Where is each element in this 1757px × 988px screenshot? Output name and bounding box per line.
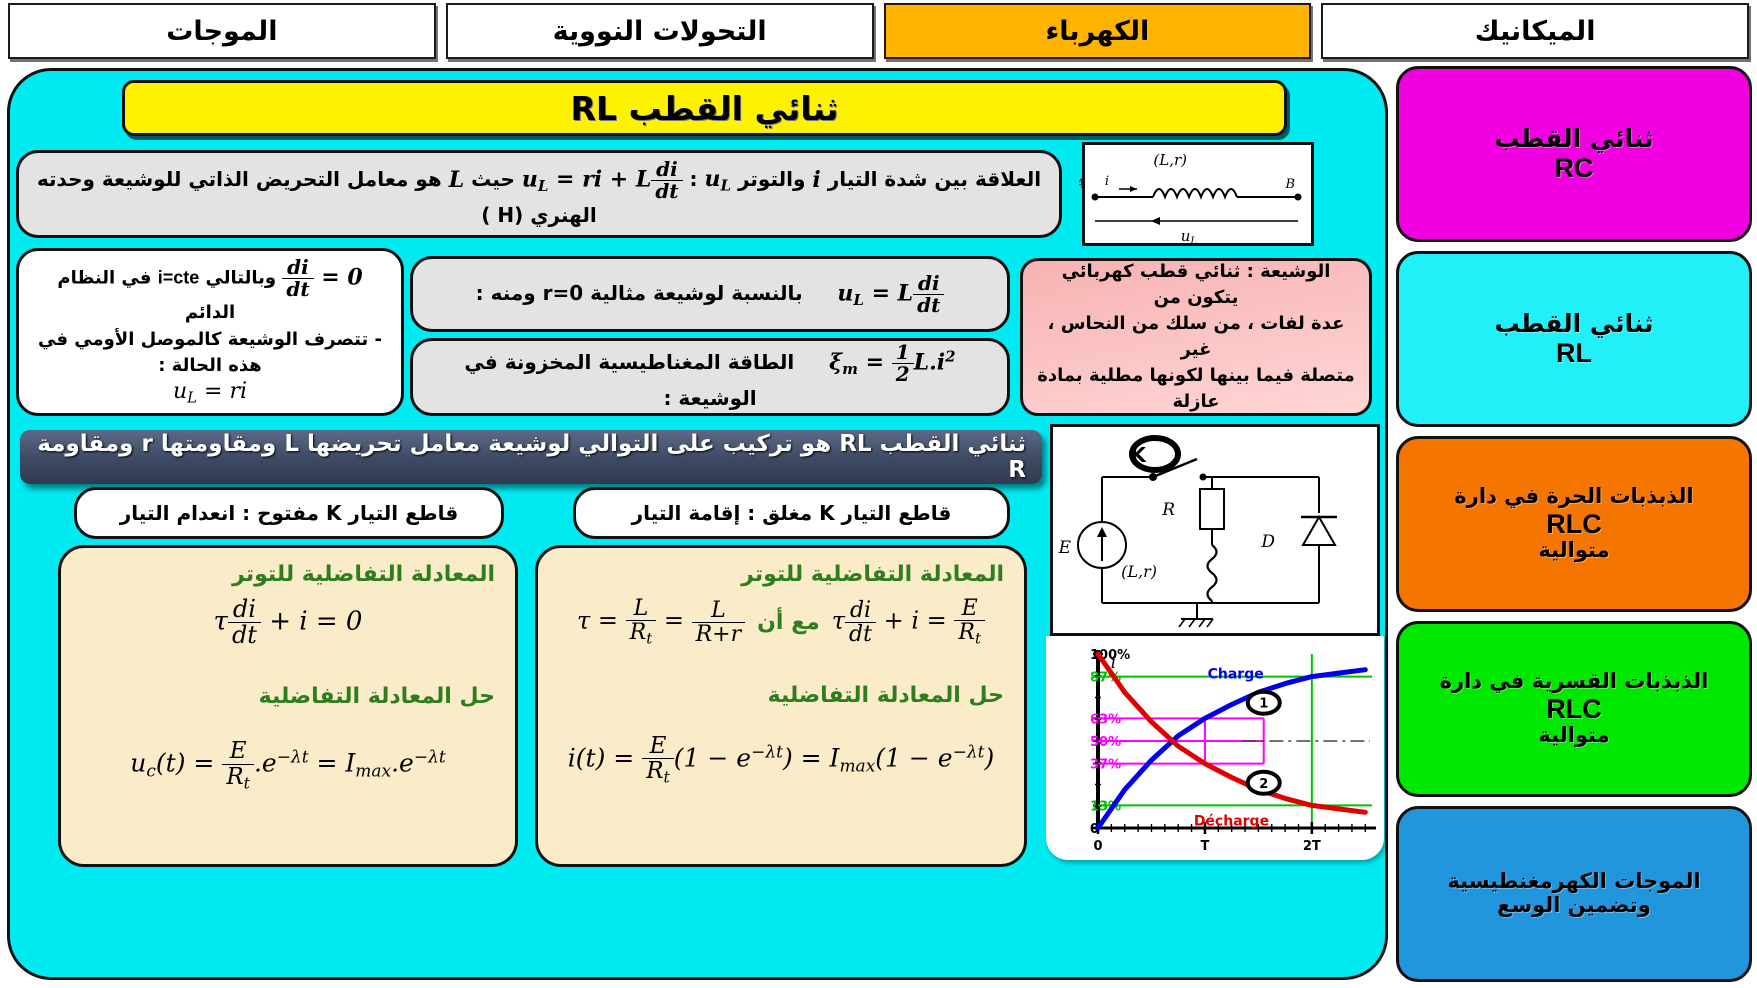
- energy-text: الطاقة المغناطيسية المخزونة في الوشيعة :: [464, 350, 794, 410]
- right-tau-equation: τ = LRt = LR+r: [577, 597, 745, 647]
- coil-def-line-1: الوشيعة : ثنائي قطب كهربائي يتكون من: [1037, 259, 1355, 311]
- sidebar-item-forced-oscillations-rlc[interactable]: الذبذبات القسرية في دارة RLC متوالية: [1396, 621, 1752, 797]
- tab-label: التحولات النووية: [553, 16, 767, 47]
- top-tab-bar: الميكانيك الكهرباء التحولات النووية المو…: [0, 0, 1757, 62]
- tab-label: الميكانيك: [1475, 16, 1596, 47]
- switch-closed-label: قاطع التيار K مغلق : إقامة التيار: [632, 500, 952, 527]
- coil-definition-box: الوشيعة : ثنائي قطب كهربائي يتكون من عدة…: [1020, 258, 1372, 416]
- right-with-text: مع أن: [757, 610, 820, 635]
- y-tick-label: 50%: [1090, 735, 1121, 750]
- rl-dipole-definition-banner: ثنائي القطب RL هو تركيب على التوالي لوشي…: [20, 430, 1042, 484]
- magnetic-energy-box: ξm = 12L.i2 الطاقة المغناطيسية المخزونة …: [410, 338, 1010, 416]
- permanent-regime-box: didt = 0 وبالتالي i=cte في النظام الدائم…: [16, 248, 404, 416]
- i-equals-cte: i=cte: [158, 268, 200, 288]
- sidebar-item-label: الذبذبات القسرية في دارة: [1440, 670, 1709, 694]
- circuit-label-K: K: [1131, 443, 1148, 467]
- source-arrow: [1097, 527, 1107, 537]
- sidebar-item-free-oscillations-rlc[interactable]: الذبذبات الحرة في دارة RLC متوالية: [1396, 436, 1752, 612]
- ideal-row: uL = Ldidt بالنسبة لوشيعة مثالية r=0 ومن…: [427, 273, 993, 316]
- energy-equation: ξm = 12L.i2: [829, 342, 955, 385]
- open-switch-equations-panel: المعادلة التفاضلية للتوتر τdidt + i = 0 …: [58, 545, 518, 867]
- relation-text-b: والتوتر: [738, 167, 805, 191]
- x-tick-label: 2T: [1303, 839, 1321, 854]
- left-diff-eq-row: τdidt + i = 0: [79, 597, 497, 648]
- ideal-coil-box: uL = Ldidt بالنسبة لوشيعة مثالية r=0 ومن…: [410, 256, 1010, 332]
- diode-triangle: [1303, 517, 1335, 545]
- circuit-label-Lr: (L,r): [1121, 562, 1157, 581]
- tab-electricity[interactable]: الكهرباء: [884, 3, 1312, 59]
- sidebar-item-label: الموجات الكهرمغنطيسية وتضمين الوسع: [1405, 870, 1743, 917]
- closed-switch-equations-panel: المعادلة التفاضلية للتوتر τ = LRt = LR+r…: [535, 545, 1027, 867]
- right-diff-eq-row: τ = LRt = LR+r مع أن τdidt + i = ERt: [556, 597, 1006, 647]
- inductor-label-B: B: [1284, 177, 1295, 192]
- sidebar-item-label2: متوالية: [1538, 539, 1609, 563]
- right-diff-equation: τdidt + i = ERt: [832, 597, 985, 647]
- sidebar-item-latin: RLC: [1546, 509, 1602, 539]
- right-diff-eq-label: المعادلة التفاضلية للتوتر: [558, 562, 1004, 587]
- current-arrow: [1130, 186, 1137, 192]
- right-solution-label: حل المعادلة التفاضلية: [558, 683, 1004, 708]
- permanent-line-2: - تتصرف الوشيعة كالموصل الأومي في هذه ال…: [33, 327, 387, 379]
- voltage-arrow: [1151, 217, 1160, 225]
- inductor-figure: (L,r) A i B uL: [1082, 142, 1314, 246]
- sidebar-item-label: الذبذبات الحرة في دارة: [1454, 485, 1693, 509]
- switch-open-box: قاطع التيار K مفتوح : انعدام التيار: [74, 487, 504, 539]
- series-label-décharge: Décharge: [1194, 813, 1269, 829]
- sidebar-item-rc-dipole[interactable]: ثنائي القطب RC: [1396, 66, 1752, 242]
- annotation-label-2: 2: [1259, 777, 1268, 792]
- sidebar-item-em-waves[interactable]: الموجات الكهرمغنطيسية وتضمين الوسع: [1396, 806, 1752, 982]
- series-label-charge: Charge: [1208, 666, 1264, 682]
- sidebar-item-latin: RC: [1555, 153, 1594, 183]
- y-tick-label: 37%: [1090, 758, 1121, 773]
- resistor-R: [1200, 489, 1224, 529]
- x-tick-label: 0: [1093, 839, 1102, 854]
- symbol-i: i: [812, 166, 820, 196]
- voltage-current-relation-box: العلاقة بين شدة التيار i والتوتر uL : uL…: [16, 150, 1062, 238]
- chart-svg: 100%87%63%50%37%13%00T2TChargeDéchargei1…: [1046, 636, 1384, 860]
- relation-text: العلاقة بين شدة التيار i والتوتر uL : uL…: [33, 159, 1045, 229]
- symbol-uL: uL: [704, 165, 731, 196]
- sidebar-item-label2: متوالية: [1538, 724, 1609, 748]
- tab-label: الموجات: [166, 16, 277, 47]
- ideal-text: بالنسبة لوشيعة مثالية r=0 ومنه :: [476, 281, 803, 305]
- page-title-label: ثنائي القطب RL: [571, 89, 839, 128]
- chart-ylabel: i: [1111, 653, 1116, 673]
- left-diff-eq-label: المعادلة التفاضلية للتوتر: [81, 562, 495, 587]
- sidebar-item-rl-dipole[interactable]: ثنائي القطب RL: [1396, 251, 1752, 427]
- page-title: ثنائي القطب RL: [122, 80, 1287, 136]
- energy-row: ξm = 12L.i2 الطاقة المغناطيسية المخزونة …: [427, 342, 993, 412]
- permanent-equation-row: uL = ri: [33, 379, 387, 406]
- didt-zero-equation: didt = 0: [282, 257, 362, 300]
- topic-sidebar: ثنائي القطب RC ثنائي القطب RL الذبذبات ا…: [1396, 66, 1752, 982]
- switch-closed-box: قاطع التيار K مغلق : إقامة التيار: [573, 487, 1010, 539]
- tab-mechanics[interactable]: الميكانيك: [1321, 3, 1749, 59]
- relation-text-c: حيث: [471, 167, 515, 191]
- coil-def-line-2: عدة لفات ، من سلك من النحاس ، غير: [1037, 311, 1355, 363]
- permanent-line-1: didt = 0 وبالتالي i=cte في النظام الدائم: [33, 257, 387, 326]
- relation-colon: :: [690, 167, 698, 191]
- circuit-label-D: D: [1260, 532, 1275, 552]
- right-solution-equation: i(t) = ERt(1 − e−λt) = Imax(1 − e−λt): [568, 734, 994, 786]
- circuit-label-E: E: [1058, 538, 1072, 558]
- circuit-coil: [1208, 545, 1217, 601]
- left-solution-equation: uc(t) = ERt.e−λt = Imax.e−λt: [130, 739, 445, 791]
- inductor-label-i: i: [1105, 174, 1109, 189]
- series-charge: [1098, 670, 1365, 828]
- symbol-L: L: [449, 166, 464, 196]
- permanent-mid-text: وبالتالي: [206, 268, 277, 289]
- left-solution-label: حل المعادلة التفاضلية: [81, 684, 495, 709]
- left-diff-equation: τdidt + i = 0: [214, 597, 363, 648]
- sidebar-item-label: ثنائي القطب: [1494, 310, 1653, 338]
- ideal-equation: uL = Ldidt: [837, 273, 944, 316]
- tab-nuclear-transformations[interactable]: التحولات النووية: [446, 3, 874, 59]
- sidebar-item-latin: RL: [1556, 338, 1592, 368]
- annotation-label-1: 1: [1259, 697, 1268, 712]
- switch-open-label: قاطع التيار K مفتوح : انعدام التيار: [120, 500, 458, 527]
- inductor-label-uL: uL: [1181, 227, 1198, 247]
- left-solution-row: uc(t) = ERt.e−λt = Imax.e−λt: [79, 739, 497, 791]
- charge-discharge-chart: 100%87%63%50%37%13%00T2TChargeDéchargei1…: [1046, 636, 1384, 860]
- sidebar-item-latin: RLC: [1546, 694, 1602, 724]
- uL-equals-ri: uL = ri: [173, 379, 247, 406]
- circuit-svg: K E R (L,r) D: [1047, 427, 1377, 639]
- tab-label: الكهرباء: [1045, 16, 1149, 47]
- banner-label: ثنائي القطب RL هو تركيب على التوالي لوشي…: [36, 431, 1026, 483]
- coil-winding: [1153, 189, 1237, 197]
- y-tick-label: 63%: [1090, 712, 1121, 727]
- circuit-label-R: R: [1161, 500, 1175, 520]
- right-solution-row: i(t) = ERt(1 − e−λt) = Imax(1 − e−λt): [556, 734, 1006, 786]
- relation-equation: uL = ri + Ldidt: [522, 159, 683, 202]
- inductor-label-Lr: (L,r): [1153, 151, 1187, 169]
- sidebar-item-label: ثنائي القطب: [1494, 125, 1653, 153]
- tab-waves[interactable]: الموجات: [8, 3, 436, 59]
- inductor-svg: (L,r) A i B uL: [1079, 145, 1311, 249]
- rl-circuit-figure: K E R (L,r) D: [1050, 424, 1380, 636]
- relation-text-a: العلاقة بين شدة التيار: [828, 167, 1041, 191]
- coil-def-line-3: متصلة فيما بينها لكونها مطلية بمادة عازل…: [1037, 363, 1355, 415]
- x-tick-label: T: [1200, 839, 1209, 854]
- inductor-label-A: A: [1079, 177, 1085, 192]
